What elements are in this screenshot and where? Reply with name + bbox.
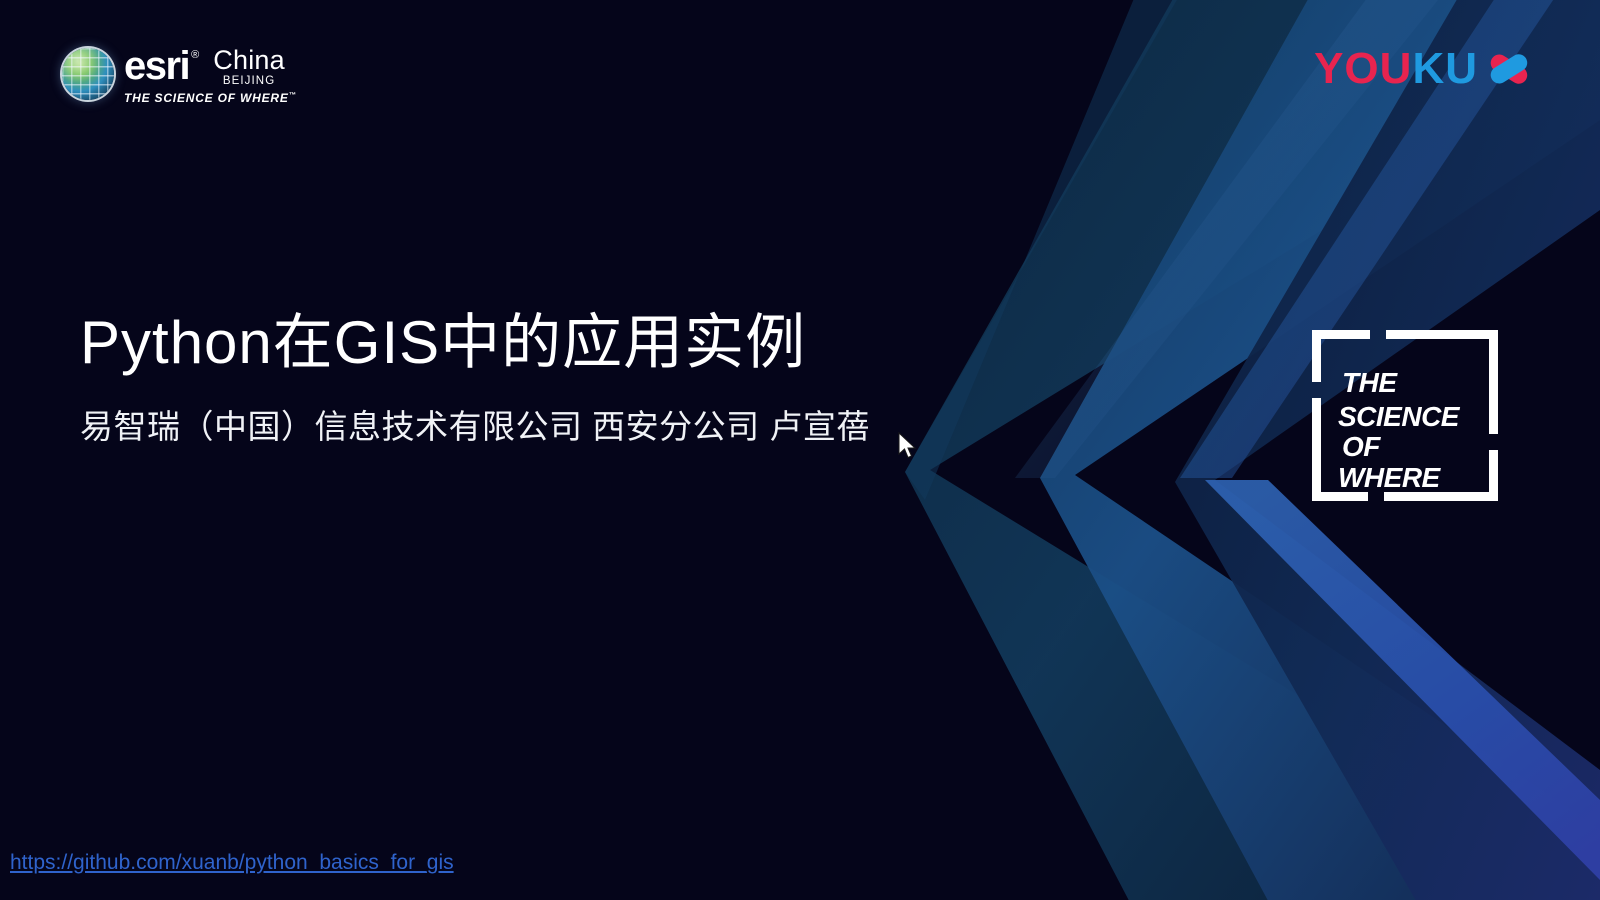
- esri-wordmark: esri: [124, 46, 189, 86]
- badge-line-3: OF: [1342, 431, 1381, 462]
- slide-title: Python在GIS中的应用实例: [80, 305, 806, 381]
- esri-region-label: China: [213, 46, 285, 74]
- esri-globe-icon: [62, 48, 114, 100]
- science-of-where-badge: THE SCIENCE OF WHERE: [1312, 330, 1498, 510]
- esri-city-label: BEIJING: [213, 76, 285, 88]
- globe-highlight: [62, 48, 114, 100]
- youku-logo: YOUKU: [1314, 46, 1540, 92]
- presentation-slide: esri ® China BEIJING THE SCIENCE OF WHER…: [0, 0, 1600, 900]
- esri-tagline: THE SCIENCE OF WHERE™: [124, 91, 297, 105]
- science-of-where-frame: THE SCIENCE OF WHERE: [1312, 330, 1498, 510]
- badge-line-1: THE: [1342, 367, 1398, 398]
- esri-trademark: ®: [191, 48, 199, 62]
- youku-word-you: YOU: [1314, 44, 1412, 93]
- github-repo-link[interactable]: https://github.com/xuanb/python_basics_f…: [10, 851, 454, 875]
- youku-word-ku: KU: [1412, 44, 1478, 93]
- youku-wordmark: YOUKU: [1314, 46, 1478, 92]
- badge-line-2: SCIENCE: [1338, 401, 1461, 432]
- esri-china-logo: esri ® China BEIJING THE SCIENCE OF WHER…: [62, 46, 297, 105]
- esri-tagline-text: THE SCIENCE OF WHERE: [124, 91, 289, 105]
- esri-tagline-tm: ™: [289, 92, 297, 99]
- youku-play-mark-icon: [1488, 49, 1540, 89]
- badge-line-4: WHERE: [1338, 462, 1442, 493]
- slide-subtitle: 易智瑞（中国）信息技术有限公司 西安分公司 卢宣蓓: [80, 404, 870, 450]
